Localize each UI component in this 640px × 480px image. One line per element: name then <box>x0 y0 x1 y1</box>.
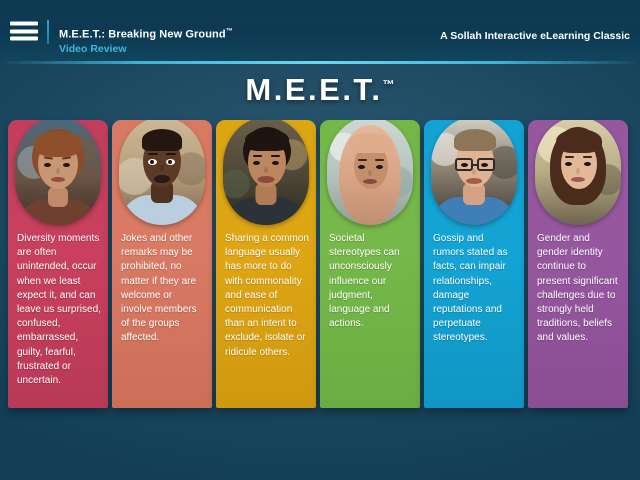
card-text: Societal stereotypes can unconsciously i… <box>329 232 413 331</box>
portrait-man-1 <box>119 120 205 225</box>
card-surface: Diversity moments are often unintended, … <box>8 120 108 408</box>
portrait-hair-front <box>34 131 82 157</box>
hamburger-bar-2 <box>10 29 38 33</box>
concept-card-societal-stereotypes[interactable]: Societal stereotypes can unconsciously i… <box>320 120 420 408</box>
course-title-text: M.E.E.T.: Breaking New Ground <box>59 29 226 41</box>
card-text: Gossip and rumors stated as facts, can i… <box>433 232 517 346</box>
portrait-mouth <box>571 177 585 182</box>
portrait-brow-right <box>375 159 384 161</box>
portrait-eye-left <box>461 163 468 167</box>
trademark-icon: ™ <box>226 28 233 35</box>
concept-card-gossip-and-rumors[interactable]: Gossip and rumors stated as facts, can i… <box>424 120 524 408</box>
eyeglass-bridge <box>473 164 479 166</box>
portrait-brow-left <box>253 155 262 157</box>
portrait-eye-left <box>358 165 365 169</box>
portrait-hair <box>454 129 496 151</box>
portrait-brow-left <box>148 153 158 155</box>
portrait-brow-left <box>565 156 574 158</box>
concept-card-jokes-and-remarks[interactable]: Jokes and other remarks may be prohibite… <box>112 120 212 408</box>
card-surface: Gender and gender identity continue to p… <box>528 120 628 408</box>
header-accent-line <box>0 61 640 64</box>
course-subtitle[interactable]: Video Review <box>59 43 233 55</box>
header-title-block: M.E.E.T.: Breaking New Ground™ Video Rev… <box>59 28 233 55</box>
app-header: M.E.E.T.: Breaking New Ground™ Video Rev… <box>0 0 640 62</box>
page-title: M.E.E.T.™ <box>0 72 640 108</box>
portrait-mouth <box>51 177 65 182</box>
portrait-brow-right <box>166 153 176 155</box>
portrait-nose <box>576 168 580 174</box>
portrait-woman-3 <box>327 120 413 225</box>
portrait-eye-right <box>376 165 383 169</box>
portrait-eye-right <box>584 162 591 166</box>
portrait-mouth <box>258 176 275 183</box>
portrait-mouth <box>466 178 482 184</box>
course-title: M.E.E.T.: Breaking New Ground™ <box>59 28 233 42</box>
concept-card-diversity-moments[interactable]: Diversity moments are often unintended, … <box>8 120 108 408</box>
hamburger-bar-1 <box>10 22 38 26</box>
portrait-hair-front <box>245 129 289 151</box>
trademark-icon: ™ <box>383 78 395 92</box>
portrait-woman-2 <box>223 120 309 225</box>
portrait-eye-left <box>253 161 260 165</box>
hamburger-menu-icon[interactable] <box>10 22 38 41</box>
portrait-nose <box>160 165 164 171</box>
portrait-hair <box>142 129 182 151</box>
portrait-hair-front <box>556 129 602 153</box>
portrait-eye-right <box>481 163 488 167</box>
brand-tagline: A Sollah Interactive eLearning Classic <box>440 30 630 42</box>
portrait-brow-left <box>358 159 367 161</box>
portrait-eye-left <box>44 163 51 167</box>
portrait-nose <box>368 170 372 176</box>
page-title-text: M.E.E.T. <box>245 72 382 107</box>
card-text: Gender and gender identity continue to p… <box>537 232 621 346</box>
portrait-brow-right <box>271 155 280 157</box>
portrait-nose <box>56 168 60 174</box>
portrait-eye-right <box>272 161 279 165</box>
header-divider <box>47 20 49 44</box>
portrait-headscarf-front <box>349 133 393 153</box>
portrait-neck <box>48 187 68 207</box>
concept-card-common-language[interactable]: Sharing a common language usually has mo… <box>216 120 316 408</box>
slide-canvas: M.E.E.T.: Breaking New Ground™ Video Rev… <box>0 0 640 480</box>
portrait-nose <box>472 169 476 175</box>
portrait-mouth <box>154 175 170 183</box>
portrait-man-2 <box>431 120 517 225</box>
card-text: Sharing a common language usually has mo… <box>225 232 309 360</box>
portrait-brow-right <box>583 156 592 158</box>
hamburger-bar-3 <box>10 37 38 41</box>
portrait-pupil-left <box>150 160 154 164</box>
portrait-mouth <box>363 179 377 184</box>
concept-card-gender-identity[interactable]: Gender and gender identity continue to p… <box>528 120 628 408</box>
card-surface: Sharing a common language usually has mo… <box>216 120 316 408</box>
portrait-woman-1 <box>15 120 101 225</box>
concept-card-list: Diversity moments are often unintended, … <box>8 120 632 410</box>
portrait-nose <box>264 167 268 173</box>
card-surface: Gossip and rumors stated as facts, can i… <box>424 120 524 408</box>
portrait-woman-4 <box>535 120 621 225</box>
card-surface: Jokes and other remarks may be prohibite… <box>112 120 212 408</box>
portrait-pupil-right <box>168 160 172 164</box>
card-text: Jokes and other remarks may be prohibite… <box>121 232 205 346</box>
portrait-eye-left <box>565 162 572 166</box>
card-surface: Societal stereotypes can unconsciously i… <box>320 120 420 408</box>
portrait-eye-right <box>63 163 70 167</box>
card-text: Diversity moments are often unintended, … <box>17 232 101 388</box>
